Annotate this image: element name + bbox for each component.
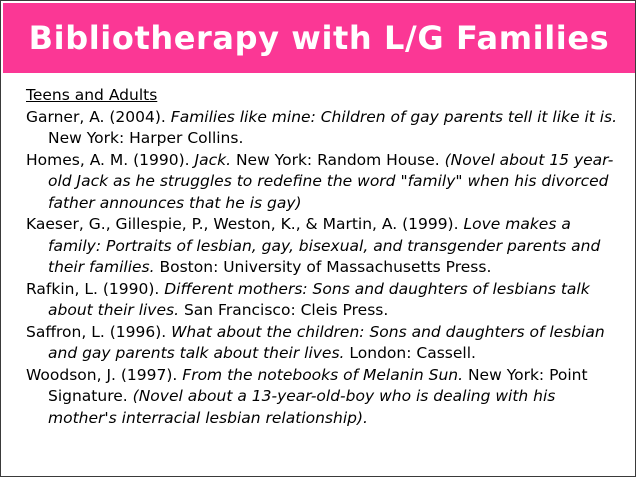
reference-text: San Francisco: Cleis Press. [179,301,388,319]
reference-text: London: Cassell. [344,344,475,362]
reference-text: New York: Random House. [231,151,445,169]
reference-text: Kaeser, G., Gillespie, P., Weston, K., &… [26,215,463,233]
title-banner: Bibliotherapy with L/G Families [3,3,635,73]
reference-title-italic: Jack. [195,151,232,169]
section-heading-teens-and-adults: Teens and Adults [26,85,626,107]
reference-entry: Homes, A. M. (1990). Jack. New York: Ran… [26,150,626,215]
reference-text: Homes, A. M. (1990). [26,151,195,169]
reference-entry: Rafkin, L. (1990). Different mothers: So… [26,279,626,322]
reference-entry: Woodson, J. (1997). From the notebooks o… [26,365,626,430]
reference-text: New York: Harper Collins. [48,129,243,147]
reference-text: Garner, A. (2004). [26,108,171,126]
bibliography-list: Garner, A. (2004). Families like mine: C… [26,107,626,430]
reference-text: Woodson, J. (1997). [26,366,182,384]
reference-entry: Saffron, L. (1996). What about the child… [26,322,626,365]
reference-entry: Garner, A. (2004). Families like mine: C… [26,107,626,150]
reference-text: Boston: University of Massachusetts Pres… [155,258,492,276]
reference-title-italic: From the notebooks of Melanin Sun. [182,366,463,384]
page-title: Bibliotherapy with L/G Families [29,22,610,54]
slide-canvas: Bibliotherapy with L/G Families Teens an… [0,0,636,477]
reference-title-italic: Families like mine: Children of gay pare… [171,108,617,126]
reference-entry: Kaeser, G., Gillespie, P., Weston, K., &… [26,214,626,279]
reference-text: Saffron, L. (1996). [26,323,171,341]
reference-text: Rafkin, L. (1990). [26,280,164,298]
reference-list-body: Teens and Adults Garner, A. (2004). Fami… [26,85,626,471]
